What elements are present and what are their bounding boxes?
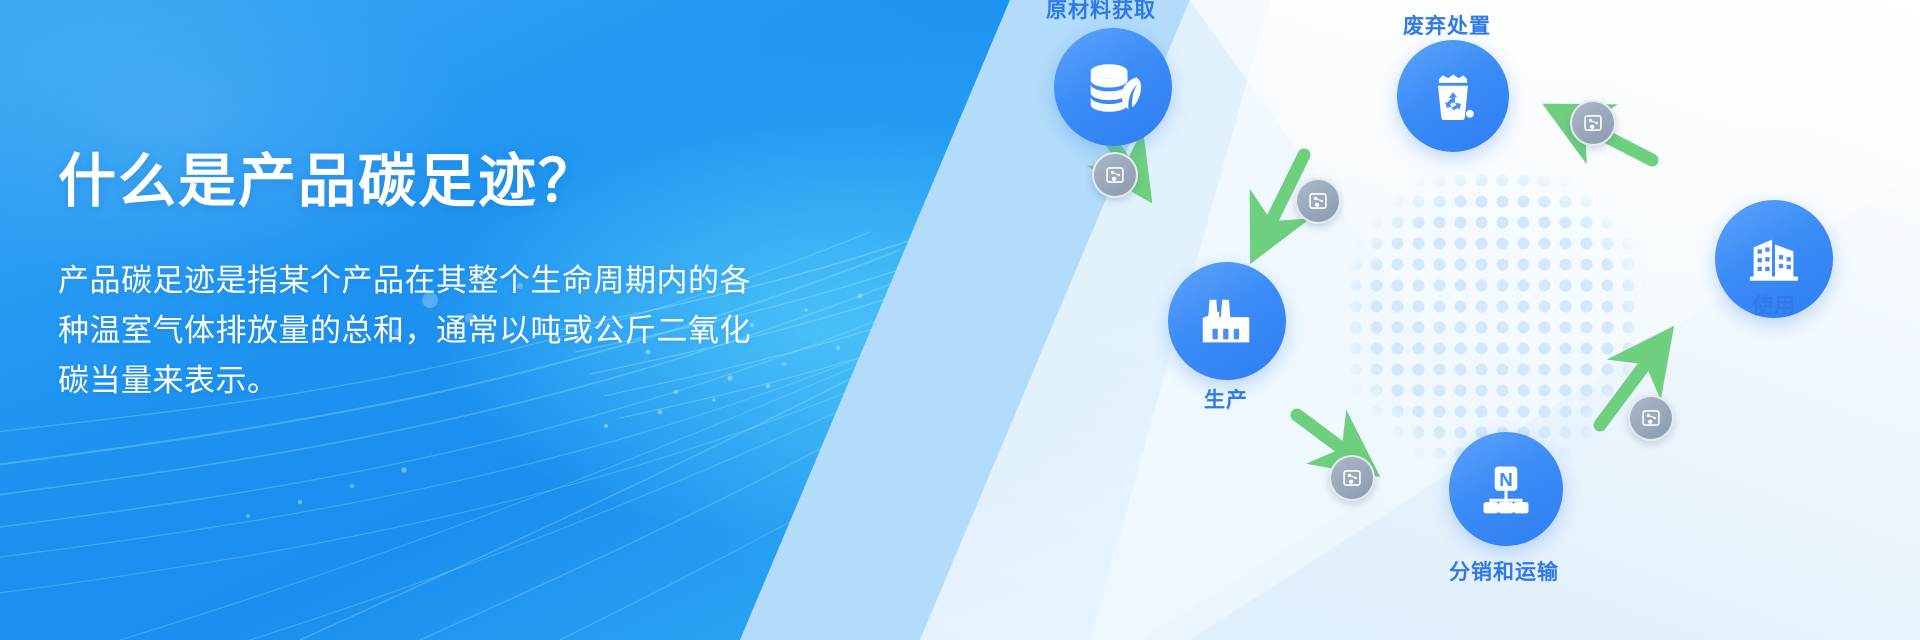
image-placeholder-icon <box>1641 408 1661 428</box>
production-bubble[interactable] <box>1168 262 1286 380</box>
banner-copy: 什么是产品碳足迹？ 产品碳足迹是指某个产品在其整个生命周期内的各种温室气体排放量… <box>58 150 908 406</box>
svg-text:N: N <box>1499 469 1513 490</box>
recycle-bin-icon <box>1423 66 1483 126</box>
distribution-label: 分销和运输 <box>1449 556 1559 586</box>
image-placeholder-icon <box>1342 468 1362 488</box>
building-icon <box>1743 228 1805 290</box>
banner-description: 产品碳足迹是指某个产品在其整个生命周期内的各种温室气体排放量的总和，通常以吨或公… <box>58 256 758 407</box>
connector-badge-use-to-waste[interactable] <box>1570 100 1616 146</box>
arrow-production-to-distribution <box>1297 415 1348 453</box>
connector-badge-raw-to-production[interactable] <box>1092 152 1138 198</box>
distribution-bubble[interactable]: N <box>1449 432 1563 546</box>
carbon-footprint-banner: 什么是产品碳足迹？ 产品碳足迹是指某个产品在其整个生命周期内的各种温室气体排放量… <box>0 0 1920 640</box>
lifecycle-diagram: 原材料获取 废弃处置 <box>1100 0 1920 640</box>
factory-icon <box>1196 290 1258 352</box>
waste-disposal-bubble[interactable] <box>1397 40 1509 152</box>
connector-badge-production-to-distribution[interactable] <box>1329 455 1375 501</box>
raw-material-bubble[interactable] <box>1054 28 1172 146</box>
connector-badge-waste-to-production[interactable] <box>1295 178 1341 224</box>
image-placeholder-icon <box>1308 191 1328 211</box>
connector-badge-distribution-to-use[interactable] <box>1628 395 1674 441</box>
image-placeholder-icon <box>1105 165 1125 185</box>
page-title: 什么是产品碳足迹？ <box>58 150 908 214</box>
network-node-icon: N <box>1476 459 1536 519</box>
waste-disposal-label: 废弃处置 <box>1403 10 1491 40</box>
use-label: 使用 <box>1752 290 1796 320</box>
image-placeholder-icon <box>1583 113 1603 133</box>
raw-material-label: 原材料获取 <box>1046 0 1156 24</box>
database-leaf-icon <box>1082 56 1144 118</box>
production-label: 生产 <box>1204 384 1248 414</box>
